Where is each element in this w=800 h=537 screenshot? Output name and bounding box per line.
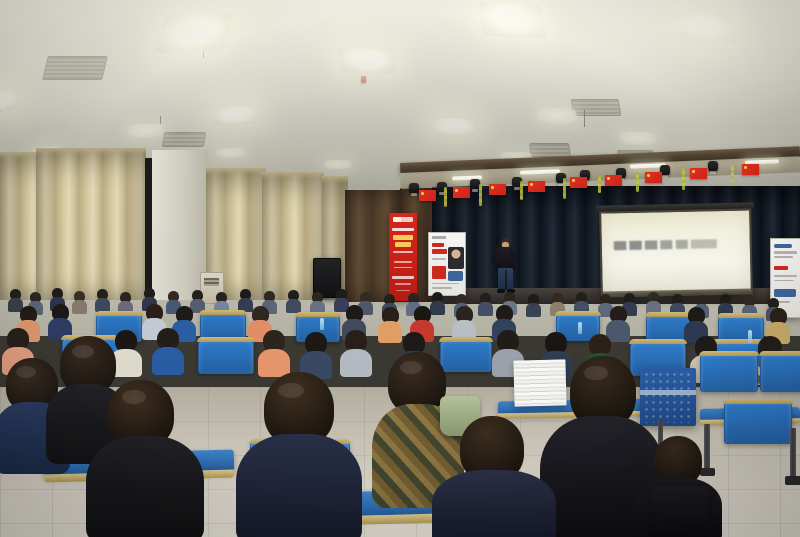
rollup-header-bar xyxy=(432,236,446,239)
hanging-garland xyxy=(479,184,482,206)
ceiling-hanger-wire xyxy=(584,110,585,127)
audience-member xyxy=(310,292,325,314)
projection-screen xyxy=(599,208,753,297)
ceiling-vent xyxy=(42,56,108,80)
auditorium-seat xyxy=(198,338,254,374)
wall-curtain-left xyxy=(36,148,146,300)
hanging-garland xyxy=(636,172,639,192)
chair-foot xyxy=(785,476,800,485)
audience-member xyxy=(152,328,184,372)
audience-member xyxy=(478,293,493,315)
stage-spotlight xyxy=(409,183,419,194)
water-bottle xyxy=(578,322,582,334)
national-flag-decoration xyxy=(690,168,707,179)
projected-slide-text xyxy=(614,239,718,250)
hanging-garland xyxy=(563,178,566,199)
national-flag-decoration xyxy=(645,172,662,183)
audience-member-foreground xyxy=(432,416,556,537)
chair-leg xyxy=(790,428,796,480)
national-flag-decoration xyxy=(489,184,506,195)
audience-member xyxy=(646,292,661,314)
audience-member-foreground xyxy=(86,380,204,537)
water-bottle xyxy=(320,318,324,330)
national-flag-decoration xyxy=(419,190,436,201)
national-flag-decoration xyxy=(453,187,470,198)
ceiling-panel-light xyxy=(432,118,476,136)
audience-member xyxy=(452,306,476,340)
empty-auditorium-seat xyxy=(700,352,758,392)
audience-member xyxy=(300,332,332,376)
hanging-garland xyxy=(731,164,734,183)
red-event-banner xyxy=(389,213,417,301)
ceiling-panel-light xyxy=(675,13,738,44)
audience-member xyxy=(258,330,290,374)
audience-member xyxy=(72,291,87,313)
hanging-garland xyxy=(682,168,685,190)
national-flag-decoration xyxy=(528,181,545,192)
rollup-banner-portrait xyxy=(428,232,466,296)
audience-member xyxy=(286,290,301,312)
empty-auditorium-seat xyxy=(724,400,792,444)
ceiling-vent xyxy=(162,132,206,147)
audience-member xyxy=(95,289,110,311)
banner-logo xyxy=(393,217,413,222)
ceiling-panel-light xyxy=(338,48,397,74)
ceiling-panel-light xyxy=(536,108,579,125)
hanging-garland xyxy=(444,187,447,207)
rollup-portrait-photo xyxy=(448,247,463,269)
ceiling-panel-light xyxy=(127,124,165,139)
national-flag-decoration xyxy=(742,164,759,175)
national-flag-decoration xyxy=(570,177,587,188)
presenter-on-stage xyxy=(492,238,520,294)
auditorium-photograph: A crowded lecture hall with rows of blue… xyxy=(0,0,800,537)
ceiling-panel-light xyxy=(476,2,547,38)
ceiling-panel-light xyxy=(619,132,657,146)
water-bottle xyxy=(748,330,752,343)
hanging-garland xyxy=(520,181,523,200)
audience-member xyxy=(340,330,372,374)
hanging-garland xyxy=(598,175,601,193)
audience-member-foreground xyxy=(236,372,362,537)
ceiling-panel-light xyxy=(215,148,246,158)
audience-member xyxy=(526,294,541,316)
ceiling-panel-light xyxy=(324,160,352,169)
ceiling-vent xyxy=(571,99,622,116)
ceiling-panel-light xyxy=(155,13,234,53)
ceiling-vent xyxy=(529,143,571,157)
ceiling-panel-light xyxy=(214,106,259,125)
fire-sprinkler-head xyxy=(361,76,366,83)
national-flag-decoration xyxy=(605,175,622,186)
empty-auditorium-seat xyxy=(760,352,800,392)
audience-member xyxy=(48,304,72,338)
handbag xyxy=(652,486,708,537)
stage-spotlight xyxy=(708,161,718,172)
